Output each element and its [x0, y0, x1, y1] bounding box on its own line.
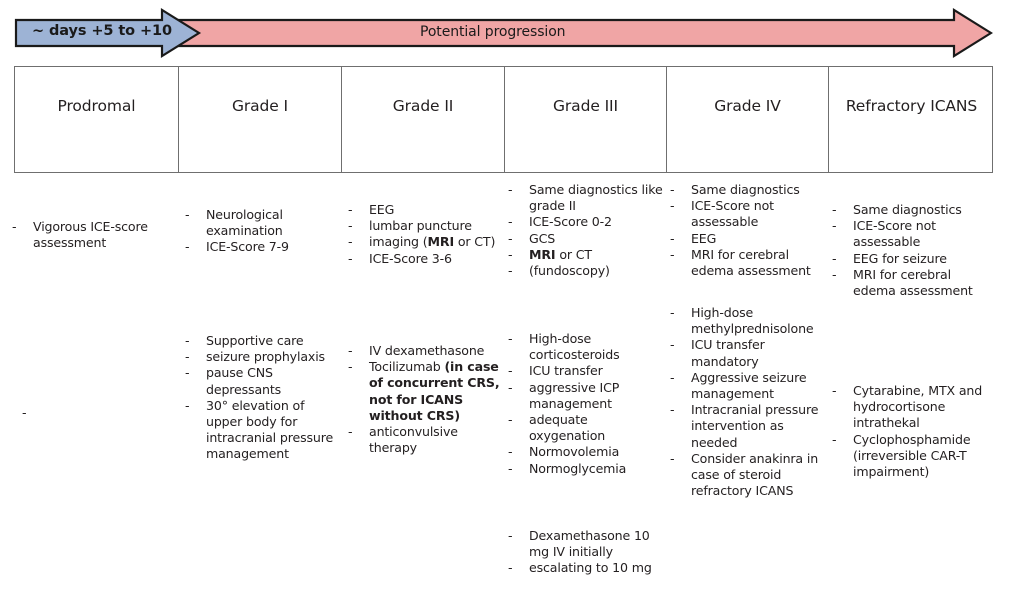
bullet-dash: -	[185, 365, 195, 381]
list-item-text: seizure prophylaxis	[206, 349, 325, 364]
list-item: -Normoglycemia	[506, 461, 661, 477]
bullet-dash: -	[670, 370, 680, 386]
bullet-list: -High-dose methylprednisolone-ICU transf…	[668, 305, 826, 499]
grade-header-label: Grade IV	[714, 97, 781, 115]
list-item: -Aggressive seizure management	[668, 370, 826, 402]
list-item-text: Vigorous ICE-score assessment	[33, 219, 148, 250]
list-item: -Cytarabine, MTX and hydrocortisone intr…	[830, 383, 993, 432]
bullet-dash: -	[508, 263, 518, 279]
list-item: -ICU transfer	[506, 363, 661, 379]
bullet-dash: -	[832, 202, 842, 218]
list-item-text: MRI or CT	[529, 247, 592, 262]
list-item: -Same diagnostics	[830, 202, 995, 218]
list-item-text: EEG for seizure	[853, 251, 947, 266]
list-item-text: ICU transfer mandatory	[691, 337, 765, 368]
list-item-text: Consider anakinra in case of steroid ref…	[691, 451, 818, 498]
grade-header-cell-grade-1: Grade I	[179, 67, 342, 172]
grade-header-label: Grade III	[553, 97, 618, 115]
bullet-dash: -	[348, 234, 358, 250]
list-item-text: ICE-Score not assessable	[853, 218, 936, 249]
list-item: -Dexamethasone 10 mg IV initially	[506, 528, 664, 560]
list-item-text: Normoglycemia	[529, 461, 626, 476]
bullet-dash: -	[185, 349, 195, 365]
grade-header-cell-refractory: Refractory ICANS	[829, 67, 994, 172]
list-item-text: ICU transfer	[529, 363, 603, 378]
timeline-banner: ~ days +5 to +10 Potential progression	[14, 8, 993, 58]
column-grade-2: -EEG-lumbar puncture-imaging (MRI or CT)…	[341, 173, 503, 590]
bullet-dash: -	[185, 207, 195, 223]
bullet-dash: -	[508, 214, 518, 230]
bullet-list: -Vigorous ICE-score assessment	[10, 219, 170, 251]
list-item-text: (fundoscopy)	[529, 263, 610, 278]
bullet-dash: -	[670, 402, 680, 418]
list-item: -Same diagnostics like grade II	[506, 182, 664, 214]
list-item-text: Tocilizumab (in case of concurrent CRS, …	[369, 359, 499, 423]
content-area: -Vigorous ICE-score assessment - -Neurol…	[0, 173, 1024, 590]
column-refractory-icans: -Same diagnostics-ICE-Score not assessab…	[827, 173, 997, 590]
list-item-text: pause CNS depressants	[206, 365, 281, 396]
bullet-dash: -	[508, 461, 518, 477]
grade-header-table: Prodromal Grade I Grade II Grade III Gra…	[14, 66, 993, 173]
bullet-list: -Same diagnostics-ICE-Score not assessab…	[668, 182, 826, 279]
list-item-text: ICE-Score 3-6	[369, 251, 452, 266]
list-item: -High-dose corticosteroids	[506, 331, 661, 363]
list-item-text: Same diagnostics	[691, 182, 800, 197]
grade-4-treatment-block: -High-dose methylprednisolone-ICU transf…	[668, 305, 826, 499]
list-item-text: lumbar puncture	[369, 218, 472, 233]
list-item-text: ICE-Score 0-2	[529, 214, 612, 229]
list-item-text: Cyclophosphamide (irreversible CAR-T imp…	[853, 432, 970, 479]
list-item-text: imaging (MRI or CT)	[369, 234, 495, 249]
list-item: -EEG for seizure	[830, 251, 995, 267]
bullet-list: -EEG-lumbar puncture-imaging (MRI or CT)…	[346, 202, 501, 267]
list-item-text: Aggressive seizure management	[691, 370, 806, 401]
bullet-dash: -	[348, 424, 358, 440]
list-item-text: EEG	[691, 231, 716, 246]
list-item: -IV dexamethasone	[346, 343, 500, 359]
list-item-text: aggressive ICP management	[529, 380, 619, 411]
list-item: -MRI for cerebral edema assessment	[668, 247, 826, 279]
list-item-text: Cytarabine, MTX and hydrocortisone intra…	[853, 383, 982, 430]
list-item-text: Same diagnostics	[853, 202, 962, 217]
bullet-dash: -	[508, 231, 518, 247]
bullet-dash: -	[508, 412, 518, 428]
bullet-dash: -	[12, 219, 22, 235]
bullet-dash: -	[508, 444, 518, 460]
list-item-text: Normovolemia	[529, 444, 619, 459]
list-item-text: IV dexamethasone	[369, 343, 484, 358]
list-item-text: Intracranial pressure intervention as ne…	[691, 402, 818, 449]
bullet-dash: -	[670, 247, 680, 263]
bullet-list: -Cytarabine, MTX and hydrocortisone intr…	[830, 383, 993, 480]
grade-header-label: Grade II	[393, 97, 454, 115]
bullet-dash: -	[508, 182, 518, 198]
bullet-dash: -	[832, 251, 842, 267]
list-item-text: Supportive care	[206, 333, 304, 348]
list-item: -ICE-Score 0-2	[506, 214, 664, 230]
bullet-dash: -	[670, 231, 680, 247]
bullet-dash: -	[185, 239, 195, 255]
icans-management-diagram: ~ days +5 to +10 Potential progression P…	[0, 0, 1024, 590]
bullet-dash: -	[508, 247, 518, 263]
list-item-text: 30° elevation of upper body for intracra…	[206, 398, 333, 462]
bullet-dash: -	[832, 383, 842, 399]
list-item-text: anticonvulsive therapy	[369, 424, 458, 455]
list-item: -MRI for cerebral edema assessment	[830, 267, 995, 299]
bullet-list: -Dexamethasone 10 mg IV initially-escala…	[506, 528, 664, 577]
list-item: -anticonvulsive therapy	[346, 424, 500, 456]
list-item: -ICE-Score 3-6	[346, 251, 501, 267]
grade-3-extra-block: -Dexamethasone 10 mg IV initially-escala…	[506, 528, 664, 577]
list-item-text: Neurological examination	[206, 207, 283, 238]
list-item: -(fundoscopy)	[506, 263, 664, 279]
bullet-dash: -	[832, 267, 842, 283]
progression-arrow	[174, 10, 991, 56]
list-item: -ICU transfer mandatory	[668, 337, 826, 369]
column-grade-1: -Neurological examination-ICE-Score 7-9 …	[178, 173, 341, 590]
list-item: -escalating to 10 mg	[506, 560, 664, 576]
bullet-list: -Neurological examination-ICE-Score 7-9	[183, 207, 338, 256]
list-item: -High-dose methylprednisolone	[668, 305, 826, 337]
list-item: -EEG	[668, 231, 826, 247]
bullet-dash: -	[832, 218, 842, 234]
list-item-text: ICE-Score not assessable	[691, 198, 774, 229]
grade-header-label: Prodromal	[58, 97, 136, 115]
grade-header-cell-prodromal: Prodromal	[15, 67, 179, 172]
grade-2-treatment-block: -IV dexamethasone-Tocilizumab (in case o…	[346, 343, 500, 456]
list-item: -Tocilizumab (in case of concurrent CRS,…	[346, 359, 500, 424]
list-item-text: Dexamethasone 10 mg IV initially	[529, 528, 650, 559]
bullet-dash: -	[508, 363, 518, 379]
list-item-text: High-dose corticosteroids	[529, 331, 620, 362]
list-item: -EEG	[346, 202, 501, 218]
bullet-dash: -	[348, 218, 358, 234]
list-item-text: EEG	[369, 202, 394, 217]
bullet-dash: -	[348, 343, 358, 359]
list-item: -ICE-Score not assessable	[668, 198, 826, 230]
grade-header-cell-grade-3: Grade III	[505, 67, 667, 172]
bullet-dash: -	[185, 398, 195, 414]
list-item-text: ICE-Score 7-9	[206, 239, 289, 254]
list-item-text: Same diagnostics like grade II	[529, 182, 663, 213]
list-item: -adequate oxygenation	[506, 412, 661, 444]
bullet-list: -IV dexamethasone-Tocilizumab (in case o…	[346, 343, 500, 456]
bullet-dash: -	[185, 333, 195, 349]
refractory-diagnostics-block: -Same diagnostics-ICE-Score not assessab…	[830, 202, 995, 299]
list-item: -ICE-Score not assessable	[830, 218, 995, 250]
list-item: -GCS	[506, 231, 664, 247]
bullet-dash: -	[508, 528, 518, 544]
bullet-dash: -	[348, 359, 358, 375]
bullet-dash: -	[508, 331, 518, 347]
grade-4-diagnostics-block: -Same diagnostics-ICE-Score not assessab…	[668, 182, 826, 279]
bullet-dash: -	[348, 251, 358, 267]
list-item: -Same diagnostics	[668, 182, 826, 198]
bullet-dash: -	[670, 305, 680, 321]
list-item: -Neurological examination	[183, 207, 338, 239]
grade-3-diagnostics-block: -Same diagnostics like grade II-ICE-Scor…	[506, 182, 664, 279]
list-item: -imaging (MRI or CT)	[346, 234, 501, 250]
list-item-text: GCS	[529, 231, 555, 246]
list-item-text: MRI for cerebral edema assessment	[853, 267, 973, 298]
bullet-dash: -	[508, 560, 518, 576]
list-item: -30° elevation of upper body for intracr…	[183, 398, 341, 463]
grade-1-diagnostics-block: -Neurological examination-ICE-Score 7-9	[183, 207, 338, 256]
bullet-dash: -	[348, 202, 358, 218]
list-item: -Supportive care	[183, 333, 341, 349]
list-item: -MRI or CT	[506, 247, 664, 263]
list-item: -ICE-Score 7-9	[183, 239, 338, 255]
refractory-treatment-block: -Cytarabine, MTX and hydrocortisone intr…	[830, 383, 993, 480]
prodromal-diagnostics-block: -Vigorous ICE-score assessment	[10, 219, 170, 251]
bullet-dash: -	[670, 337, 680, 353]
list-item: -Intracranial pressure intervention as n…	[668, 402, 826, 451]
grade-1-treatment-block: -Supportive care-seizure prophylaxis-pau…	[183, 333, 341, 463]
bullet-dash: -	[670, 451, 680, 467]
grade-3-treatment-block: -High-dose corticosteroids-ICU transfer-…	[506, 331, 661, 477]
bullet-dash: -	[670, 182, 680, 198]
prodromal-treatment-placeholder-dash: -	[22, 405, 27, 421]
list-item-text: MRI for cerebral edema assessment	[691, 247, 811, 278]
bullet-list: -Supportive care-seizure prophylaxis-pau…	[183, 333, 341, 463]
bullet-list: -Same diagnostics-ICE-Score not assessab…	[830, 202, 995, 299]
bullet-dash: -	[832, 432, 842, 448]
list-item-text: High-dose methylprednisolone	[691, 305, 814, 336]
list-item: -seizure prophylaxis	[183, 349, 341, 365]
bullet-dash: -	[670, 198, 680, 214]
list-item-text: escalating to 10 mg	[529, 560, 652, 575]
column-grade-3: -Same diagnostics like grade II-ICE-Scor…	[503, 173, 665, 590]
list-item: -pause CNS depressants	[183, 365, 341, 397]
grade-header-cell-grade-4: Grade IV	[667, 67, 829, 172]
list-item: -aggressive ICP management	[506, 380, 661, 412]
progression-label: Potential progression	[420, 24, 565, 40]
bullet-dash: -	[508, 380, 518, 396]
list-item: -Cyclophosphamide (irreversible CAR-T im…	[830, 432, 993, 481]
list-item: -Vigorous ICE-score assessment	[10, 219, 170, 251]
phase-label: ~ days +5 to +10	[32, 23, 172, 39]
grade-header-label: Refractory ICANS	[846, 97, 977, 115]
grade-header-label: Grade I	[232, 97, 288, 115]
grade-header-cell-grade-2: Grade II	[342, 67, 505, 172]
column-prodromal: -Vigorous ICE-score assessment -	[10, 173, 178, 590]
list-item-text: adequate oxygenation	[529, 412, 605, 443]
bullet-list: -Same diagnostics like grade II-ICE-Scor…	[506, 182, 664, 279]
column-grade-4: -Same diagnostics-ICE-Score not assessab…	[665, 173, 827, 590]
list-item: -Consider anakinra in case of steroid re…	[668, 451, 826, 500]
bullet-list: -High-dose corticosteroids-ICU transfer-…	[506, 331, 661, 477]
grade-2-diagnostics-block: -EEG-lumbar puncture-imaging (MRI or CT)…	[346, 202, 501, 267]
list-item: -Normovolemia	[506, 444, 661, 460]
list-item: -lumbar puncture	[346, 218, 501, 234]
